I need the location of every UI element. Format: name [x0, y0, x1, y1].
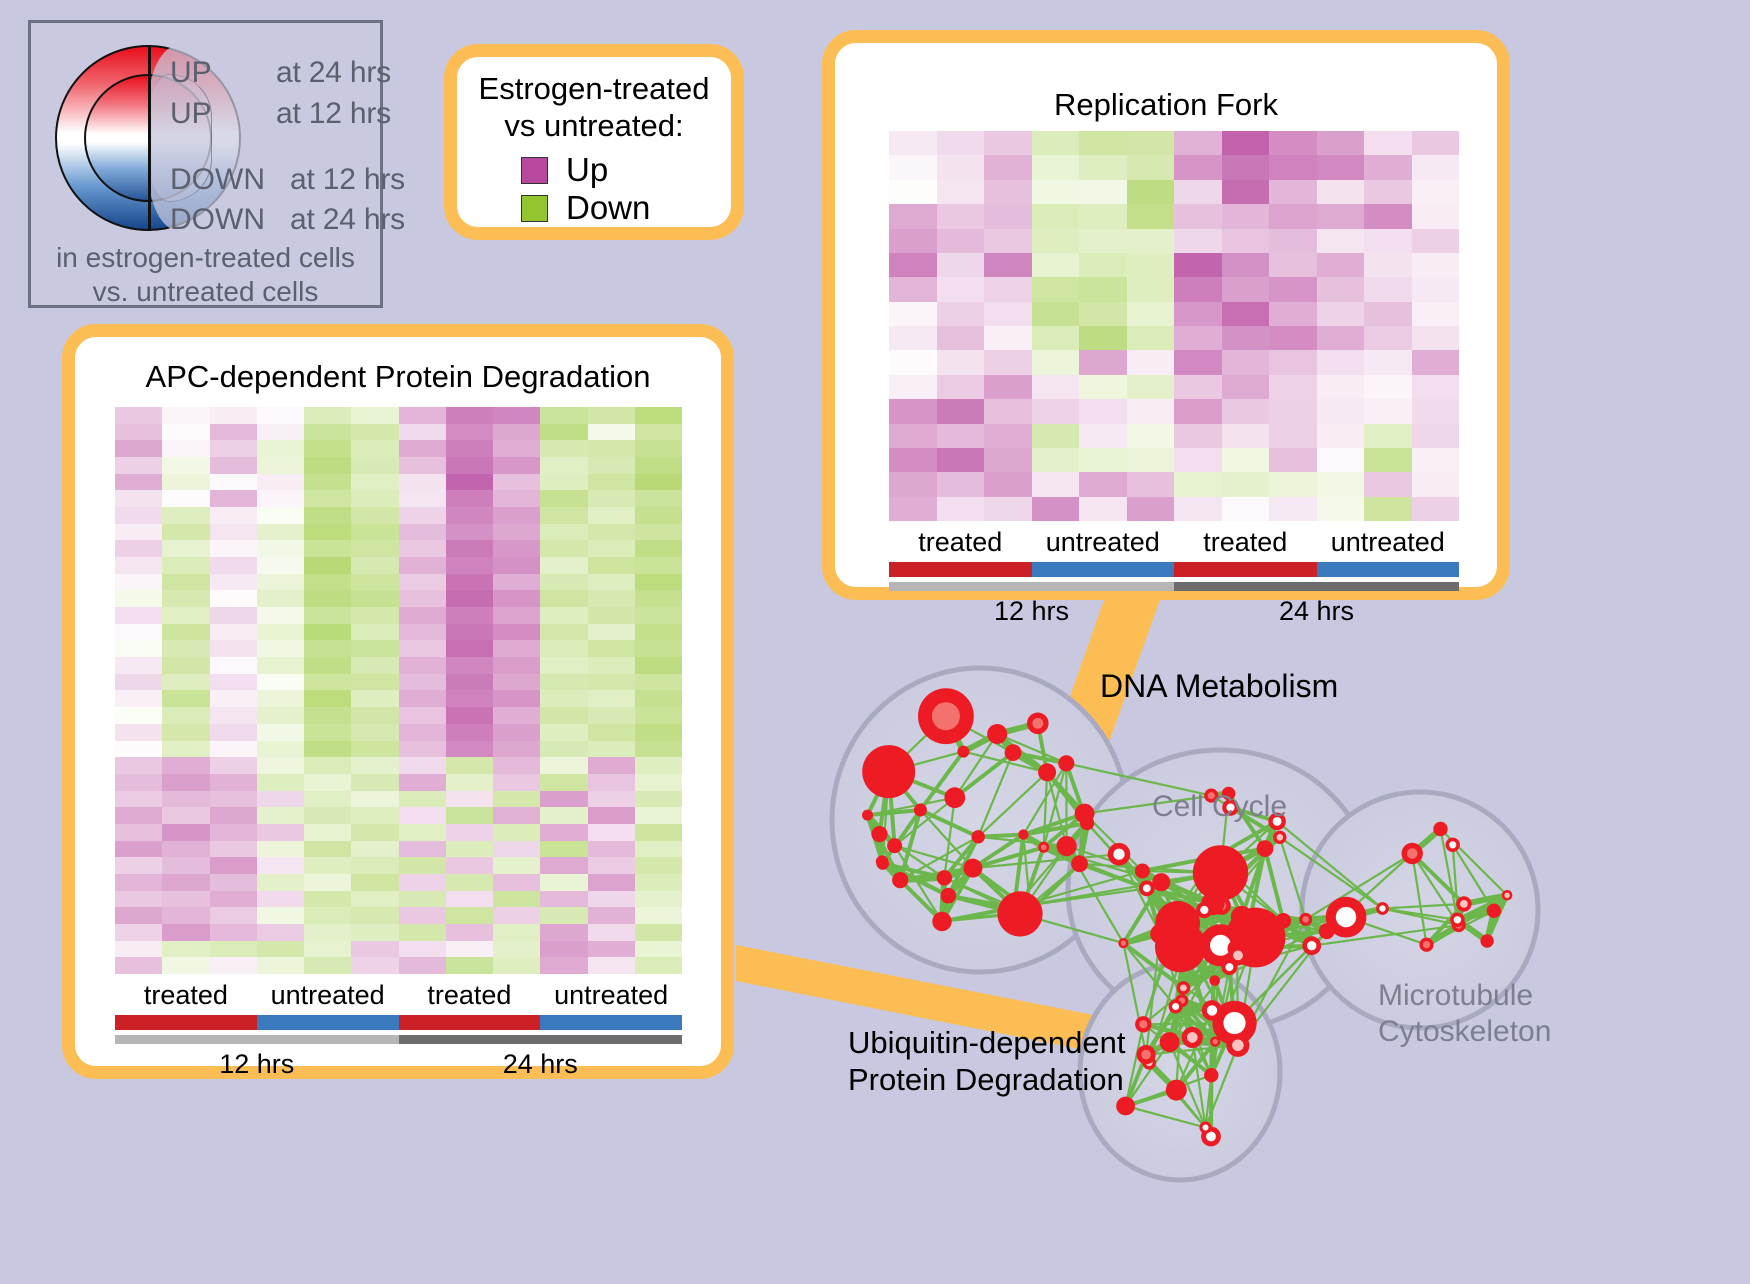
heatmap-cell — [1222, 253, 1270, 277]
heatmap-cell — [1127, 229, 1175, 253]
heatmap-cell — [493, 557, 540, 574]
heatmap-cell — [257, 707, 304, 724]
heatmap-cell — [257, 640, 304, 657]
heatmap-cell — [1364, 229, 1412, 253]
heatmap-cell — [588, 824, 635, 841]
condition-bar — [399, 1015, 541, 1030]
heatmap-cell — [257, 874, 304, 891]
heatmap-cell — [540, 624, 587, 641]
heatmap-cell — [493, 757, 540, 774]
heatmap-cell — [257, 424, 304, 441]
heatmap-cell — [1079, 350, 1127, 374]
heatmap-cell — [162, 824, 209, 841]
heatmap-cell — [588, 791, 635, 808]
heatmap-cell — [1174, 253, 1222, 277]
heatmap-cell — [304, 474, 351, 491]
heatmap-cell — [1032, 204, 1080, 228]
heatmap-cell — [493, 741, 540, 758]
heatmap-cell — [351, 874, 398, 891]
heatmap-cell — [937, 302, 985, 326]
heatmap-cell — [1412, 326, 1460, 350]
heatmap-cell — [493, 524, 540, 541]
heatmap-cell — [540, 857, 587, 874]
heatmap-cell — [351, 924, 398, 941]
heatmap-cell — [399, 457, 446, 474]
heatmap-cell — [1032, 326, 1080, 350]
heatmap-cell — [162, 624, 209, 641]
heatmap-cell — [162, 841, 209, 858]
heatmap-cell — [399, 540, 446, 557]
heatmap-cell — [115, 924, 162, 941]
heatmap-cell — [162, 690, 209, 707]
heatmap-cell — [635, 490, 682, 507]
heatmap-cell — [257, 474, 304, 491]
heatmap-cell — [1364, 277, 1412, 301]
heatmap-cell — [210, 791, 257, 808]
heatmap-cell — [257, 791, 304, 808]
network-node — [1038, 842, 1049, 853]
heatmap-cell — [540, 891, 587, 908]
heatmap-cell — [210, 557, 257, 574]
heatmap-cell — [257, 574, 304, 591]
heatmap-cell — [446, 657, 493, 674]
heatmap-cell — [304, 841, 351, 858]
heatmap-cell — [399, 907, 446, 924]
heatmap-cell — [446, 807, 493, 824]
heatmap-cell — [540, 924, 587, 941]
heatmap-cell — [540, 791, 587, 808]
heatmap-cell — [1412, 229, 1460, 253]
figure-canvas: UP at 24 hrs UP at 12 hrs DOWN at 12 hrs… — [0, 0, 1750, 1279]
heatmap-cell — [210, 891, 257, 908]
heatmap-cell — [984, 180, 1032, 204]
heatmap-cell — [1412, 131, 1460, 155]
heatmap-cell — [162, 924, 209, 941]
network-node — [1376, 902, 1389, 915]
heatmap-cell — [210, 707, 257, 724]
heatmap-cell — [1032, 277, 1080, 301]
heatmap-cell — [1032, 375, 1080, 399]
heatmap-cell — [304, 624, 351, 641]
heatmap-cell — [889, 277, 937, 301]
heatmap-cell — [399, 624, 446, 641]
heatmap-cell — [351, 507, 398, 524]
heatmap-cell — [889, 375, 937, 399]
heatmap-cell — [588, 757, 635, 774]
heatmap-cell — [257, 841, 304, 858]
heatmap-cell — [399, 674, 446, 691]
heatmap-cell — [257, 957, 304, 974]
heatmap-cell — [1079, 399, 1127, 423]
heatmap-cell — [540, 507, 587, 524]
heatmap-cell — [210, 590, 257, 607]
heatmap-cell — [399, 891, 446, 908]
heatmap-cell — [399, 774, 446, 791]
heatmap-cell — [1364, 448, 1412, 472]
condition-bar — [115, 1015, 257, 1030]
heatmap-cell — [351, 490, 398, 507]
heatmap-cell — [115, 674, 162, 691]
heatmap-cell — [399, 874, 446, 891]
heatmap-cell — [1222, 204, 1270, 228]
heatmap-cell — [1174, 229, 1222, 253]
heatmap-cell — [399, 574, 446, 591]
heatmap-cell — [1032, 302, 1080, 326]
heatmap-cell — [1364, 424, 1412, 448]
heatmap-cell — [937, 424, 985, 448]
heatmap-cell — [399, 507, 446, 524]
heatmap-cell — [210, 824, 257, 841]
expression-legend-items: Up Down — [521, 151, 650, 227]
heatmap-cell — [1412, 180, 1460, 204]
heatmap-cell — [1174, 155, 1222, 179]
heatmap-cell — [304, 640, 351, 657]
heatmap-cell — [446, 490, 493, 507]
heatmap-cell — [1127, 326, 1175, 350]
network-node — [1480, 934, 1493, 947]
heatmap-cell — [984, 375, 1032, 399]
heatmap-cell — [162, 440, 209, 457]
heatmap-cell — [257, 741, 304, 758]
heatmap-cell — [1032, 399, 1080, 423]
network-node — [1075, 804, 1095, 824]
heatmap-cell — [304, 807, 351, 824]
heatmap-cell — [1174, 302, 1222, 326]
heatmap-cell — [115, 874, 162, 891]
heatmap-cell — [588, 741, 635, 758]
network-node — [987, 724, 1007, 744]
heatmap-cell — [162, 957, 209, 974]
heatmap-cell — [351, 891, 398, 908]
heatmap-cell — [1127, 399, 1175, 423]
network-node — [1116, 1097, 1135, 1116]
heatmap-cell — [493, 424, 540, 441]
heatmap-cell — [1269, 302, 1317, 326]
heatmap-cell — [304, 507, 351, 524]
network-node — [1326, 897, 1367, 938]
heatmap-cell — [1174, 277, 1222, 301]
heatmap-cell — [1222, 326, 1270, 350]
heatmap-cell — [1032, 472, 1080, 496]
colorscale-footer: in estrogen-treated cells vs. untreated … — [31, 241, 380, 309]
heatmap-cell — [1317, 375, 1365, 399]
heatmap-cell — [304, 741, 351, 758]
heatmap-cell — [1032, 350, 1080, 374]
heatmap-cell — [1364, 375, 1412, 399]
heatmap-cell — [635, 824, 682, 841]
colorscale-footer-line2: vs. untreated cells — [31, 275, 380, 309]
colorscale-dir-0: UP — [170, 56, 212, 90]
network-node — [1139, 880, 1155, 896]
heatmap-cell — [635, 757, 682, 774]
heatmap-cell — [446, 757, 493, 774]
heatmap-cell — [446, 457, 493, 474]
heatmap-cell — [1174, 131, 1222, 155]
heatmap-cell — [635, 407, 682, 424]
network-node — [937, 870, 952, 885]
heatmap-cell — [937, 180, 985, 204]
heatmap-cell — [889, 180, 937, 204]
heatmap-cell — [162, 540, 209, 557]
heatmap-cell — [115, 457, 162, 474]
network-node — [892, 872, 908, 888]
heatmap-cell — [635, 424, 682, 441]
heatmap-cell — [162, 707, 209, 724]
replication-fork-title: Replication Fork — [835, 87, 1497, 123]
heatmap-cell — [162, 507, 209, 524]
heatmap-cell — [1127, 253, 1175, 277]
heatmap-cell — [304, 891, 351, 908]
heatmap-cell — [257, 590, 304, 607]
heatmap-cell — [1412, 155, 1460, 179]
heatmap-cell — [984, 472, 1032, 496]
apc-condition-bars — [115, 1015, 682, 1030]
condition-label: untreated — [540, 980, 682, 1011]
heatmap-cell — [1317, 350, 1365, 374]
heatmap-cell — [257, 941, 304, 958]
heatmap-cell — [446, 607, 493, 624]
heatmap-cell — [1127, 180, 1175, 204]
heatmap-cell — [304, 424, 351, 441]
heatmap-cell — [1269, 399, 1317, 423]
heatmap-cell — [210, 640, 257, 657]
heatmap-cell — [210, 440, 257, 457]
heatmap-cell — [351, 724, 398, 741]
network-node — [1228, 946, 1248, 966]
heatmap-cell — [1079, 424, 1127, 448]
heatmap-cell — [115, 557, 162, 574]
heatmap-cell — [1127, 131, 1175, 155]
heatmap-cell — [937, 131, 985, 155]
heatmap-cell — [115, 724, 162, 741]
heatmap-cell — [635, 707, 682, 724]
network-node — [1226, 1034, 1249, 1057]
cluster-label-ubiquitin-line2: Protein Degradation — [848, 1061, 1126, 1098]
heatmap-cell — [1127, 204, 1175, 228]
heatmap-cell — [493, 624, 540, 641]
heatmap-cell — [115, 757, 162, 774]
heatmap-cell — [1174, 326, 1222, 350]
heatmap-cell — [446, 774, 493, 791]
network-node — [1169, 1000, 1183, 1014]
heatmap-cell — [351, 640, 398, 657]
heatmap-cell — [351, 690, 398, 707]
heatmap-cell — [210, 624, 257, 641]
heatmap-cell — [588, 857, 635, 874]
network-node — [963, 859, 982, 878]
heatmap-cell — [889, 229, 937, 253]
heatmap-cell — [1269, 424, 1317, 448]
heatmap-cell — [635, 640, 682, 657]
heatmap-cell — [399, 407, 446, 424]
heatmap-cell — [493, 907, 540, 924]
heatmap-cell — [210, 574, 257, 591]
heatmap-cell — [399, 791, 446, 808]
heatmap-cell — [1079, 326, 1127, 350]
heatmap-cell — [588, 557, 635, 574]
heatmap-cell — [937, 253, 985, 277]
heatmap-cell — [446, 640, 493, 657]
heatmap-cell — [304, 690, 351, 707]
heatmap-cell — [1174, 204, 1222, 228]
heatmap-cell — [588, 540, 635, 557]
heatmap-cell — [304, 857, 351, 874]
heatmap-cell — [588, 440, 635, 457]
heatmap-cell — [351, 624, 398, 641]
heatmap-cell — [493, 657, 540, 674]
heatmap-cell — [588, 624, 635, 641]
heatmap-cell — [162, 657, 209, 674]
heatmap-cell — [1364, 131, 1412, 155]
heatmap-cell — [162, 774, 209, 791]
heatmap-cell — [257, 674, 304, 691]
heatmap-cell — [889, 497, 937, 521]
heatmap-cell — [446, 924, 493, 941]
heatmap-cell — [1364, 350, 1412, 374]
heatmap-cell — [984, 350, 1032, 374]
heatmap-cell — [304, 941, 351, 958]
cluster-label-microtubule-line2: Cytoskeleton — [1378, 1014, 1551, 1050]
heatmap-cell — [210, 657, 257, 674]
heatmap-cell — [635, 607, 682, 624]
heatmap-cell — [351, 674, 398, 691]
heatmap-cell — [1269, 155, 1317, 179]
heatmap-cell — [257, 724, 304, 741]
heatmap-cell — [399, 557, 446, 574]
heatmap-cell — [351, 407, 398, 424]
network-node — [887, 838, 902, 853]
heatmap-cell — [635, 440, 682, 457]
heatmap-cell — [493, 440, 540, 457]
heatmap-cell — [304, 590, 351, 607]
heatmap-cell — [115, 490, 162, 507]
heatmap-cell — [1222, 155, 1270, 179]
heatmap-cell — [1317, 180, 1365, 204]
heatmap-cell — [588, 690, 635, 707]
heatmap-cell — [540, 490, 587, 507]
network-node — [972, 830, 985, 843]
network-node — [1502, 890, 1513, 901]
heatmap-cell — [304, 907, 351, 924]
heatmap-cell — [635, 857, 682, 874]
heatmap-cell — [162, 640, 209, 657]
heatmap-cell — [937, 277, 985, 301]
network-node — [1209, 975, 1220, 986]
condition-bar — [540, 1015, 682, 1030]
expression-legend-title: Estrogen-treated vs untreated: — [457, 71, 731, 144]
heatmap-cell — [115, 574, 162, 591]
heatmap-cell — [540, 674, 587, 691]
heatmap-cell — [304, 574, 351, 591]
heatmap-cell — [588, 724, 635, 741]
heatmap-cell — [210, 841, 257, 858]
heatmap-cell — [1317, 204, 1365, 228]
heatmap-cell — [984, 326, 1032, 350]
network-svg — [800, 620, 1600, 1279]
heatmap-cell — [115, 791, 162, 808]
heatmap-cell — [493, 674, 540, 691]
heatmap-cell — [540, 424, 587, 441]
colorscale-legend-box: UP at 24 hrs UP at 12 hrs DOWN at 12 hrs… — [28, 20, 383, 308]
up-swatch-icon — [521, 157, 548, 184]
heatmap-cell — [257, 457, 304, 474]
network-node — [1208, 849, 1223, 864]
heatmap-cell — [635, 540, 682, 557]
heatmap-cell — [1079, 253, 1127, 277]
heatmap-cell — [115, 440, 162, 457]
heatmap-cell — [162, 524, 209, 541]
condition-bar — [1174, 562, 1317, 577]
heatmap-cell — [984, 448, 1032, 472]
network-node — [1450, 913, 1465, 928]
heatmap-cell — [889, 326, 937, 350]
heatmap-cell — [540, 757, 587, 774]
heatmap-cell — [446, 791, 493, 808]
heatmap-cell — [540, 607, 587, 624]
heatmap-cell — [399, 640, 446, 657]
heatmap-cell — [446, 590, 493, 607]
heatmap-cell — [351, 457, 398, 474]
heatmap-cell — [257, 807, 304, 824]
condition-bar — [1317, 562, 1460, 577]
network-node — [1433, 822, 1447, 836]
heatmap-cell — [540, 941, 587, 958]
heatmap-cell — [1364, 472, 1412, 496]
heatmap-cell — [351, 557, 398, 574]
network-node — [876, 857, 889, 870]
apc-degradation-panel: APC-dependent Protein Degradation treate… — [62, 324, 734, 1079]
heatmap-cell — [446, 707, 493, 724]
heatmap-cell — [889, 155, 937, 179]
heatmap-cell — [162, 457, 209, 474]
heatmap-cell — [115, 540, 162, 557]
condition-label: treated — [115, 980, 257, 1011]
heatmap-cell — [351, 757, 398, 774]
heatmap-cell — [210, 907, 257, 924]
heatmap-cell — [1127, 424, 1175, 448]
expression-legend-panel: Estrogen-treated vs untreated: Up Down — [444, 44, 744, 240]
heatmap-cell — [115, 857, 162, 874]
heatmap-cell — [635, 891, 682, 908]
colorscale-time-1: at 12 hrs — [276, 97, 391, 131]
heatmap-cell — [304, 824, 351, 841]
heatmap-cell — [984, 424, 1032, 448]
heatmap-cell — [351, 574, 398, 591]
heatmap-cell — [351, 657, 398, 674]
heatmap-cell — [115, 824, 162, 841]
heatmap-cell — [540, 841, 587, 858]
heatmap-cell — [493, 724, 540, 741]
heatmap-cell — [588, 957, 635, 974]
network-node — [1273, 831, 1286, 844]
heatmap-cell — [1222, 375, 1270, 399]
heatmap-cell — [257, 757, 304, 774]
heatmap-cell — [446, 857, 493, 874]
heatmap-cell — [493, 457, 540, 474]
heatmap-cell — [635, 807, 682, 824]
heatmap-cell — [446, 690, 493, 707]
condition-label: treated — [889, 527, 1032, 558]
apc-degradation-heatmap — [115, 407, 682, 974]
heatmap-cell — [1412, 472, 1460, 496]
network-node — [1167, 913, 1184, 930]
heatmap-cell — [1317, 131, 1365, 155]
heatmap-cell — [257, 857, 304, 874]
heatmap-cell — [540, 540, 587, 557]
heatmap-cell — [399, 424, 446, 441]
heatmap-cell — [115, 624, 162, 641]
heatmap-cell — [351, 741, 398, 758]
